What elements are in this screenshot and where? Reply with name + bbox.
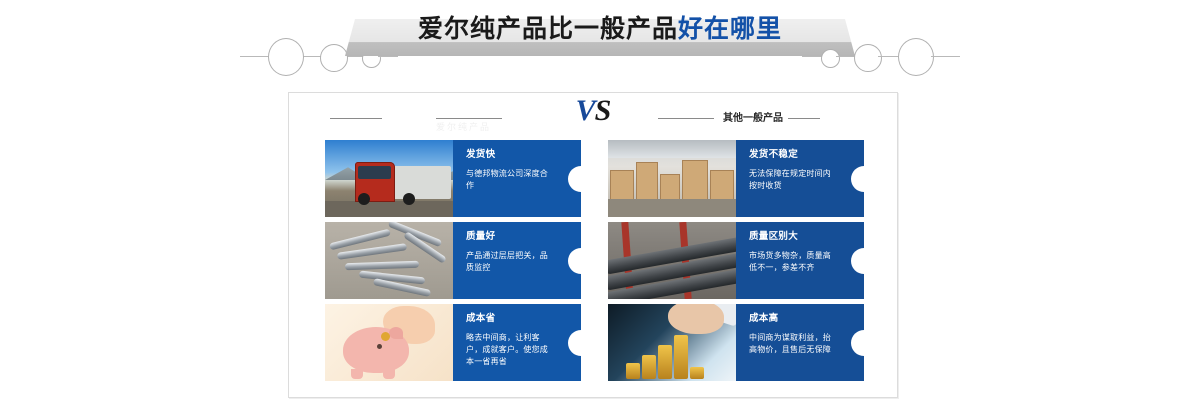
card-notch [568,248,581,274]
header-rule-left [240,56,270,57]
vs-letter-v: V [576,94,595,127]
header-connector-right-3 [802,56,822,57]
vs-line-left-outer [330,118,382,119]
card-panel: 发货快 与德邦物流公司深度合作 [453,140,581,217]
vs-line-right-inner [658,118,714,119]
left-column-label: 爱尔纯产品 [436,120,546,133]
card-notch [851,248,864,274]
card-panel: 成本省 略去中间商，让利客户，成就客户。使您成本一省再省 [453,304,581,381]
card-thumbnail-warehouse [608,140,736,217]
page-title-main: 爱尔纯产品比一般产品 [418,15,678,43]
advantage-card[interactable]: 发货快 与德邦物流公司深度合作 [325,140,581,217]
card-description: 市场货多物杂，质量高低不一，参差不齐 [749,250,838,274]
card-title: 发货不稳定 [749,149,838,161]
header-connector-right-1 [878,56,900,57]
header-circle-large-left [268,38,304,76]
card-title: 质量好 [466,231,555,243]
header-rule-right [931,56,960,57]
card-thumbnail-tubes [325,222,453,299]
page-title-highlight: 好在哪里 [678,15,782,43]
own-product-column: 发货快 与德邦物流公司深度合作 质量好 产品通过层层把关，品质监控 [325,140,581,381]
vs-header-row: 爱尔纯产品 VS 其他一般产品 [288,96,898,140]
advantage-card[interactable]: 质量好 产品通过层层把关，品质监控 [325,222,581,299]
header-circle-large-right [898,38,934,76]
card-notch [851,330,864,356]
card-panel: 质量好 产品通过层层把关，品质监控 [453,222,581,299]
card-thumbnail-coin-stacks [608,304,736,381]
card-title: 质量区别大 [749,231,838,243]
card-description: 与德邦物流公司深度合作 [466,168,555,192]
vs-badge: VS [553,94,633,128]
card-title: 成本省 [466,313,555,325]
card-title: 成本高 [749,313,838,325]
other-product-column: 发货不稳定 无法保障在规定时间内按时收货 质量区别大 市场货多物杂，质量高低不一… [608,140,864,381]
card-panel: 发货不稳定 无法保障在规定时间内按时收货 [736,140,864,217]
card-title: 发货快 [466,149,555,161]
header-circle-small-right [821,49,840,68]
card-notch [568,166,581,192]
card-description: 无法保障在规定时间内按时收货 [749,168,838,192]
card-description: 略去中间商，让利客户，成就客户。使您成本一省再省 [466,332,555,368]
advantage-card[interactable]: 成本省 略去中间商，让利客户，成就客户。使您成本一省再省 [325,304,581,381]
card-thumbnail-truck [325,140,453,217]
header-circle-medium-right [854,44,882,72]
card-panel: 成本高 中间商为谋取利益，抬高物价，且售后无保障 [736,304,864,381]
vs-line-left-inner [436,118,502,119]
right-column-label: 其他一般产品 [714,109,792,124]
card-notch [851,166,864,192]
drawback-card[interactable]: 质量区别大 市场货多物杂，质量高低不一，参差不齐 [608,222,864,299]
card-panel: 质量区别大 市场货多物杂，质量高低不一，参差不齐 [736,222,864,299]
card-description: 产品通过层层把关，品质监控 [466,250,555,274]
header-circle-medium-left [320,44,348,72]
drawback-card[interactable]: 成本高 中间商为谋取利益，抬高物价，且售后无保障 [608,304,864,381]
page-title: 爱尔纯产品比一般产品好在哪里 [345,12,855,46]
vs-line-right-outer [788,118,820,119]
card-notch [568,330,581,356]
card-thumbnail-pipes [608,222,736,299]
header-connector-left-3 [378,56,398,57]
card-description: 中间商为谋取利益，抬高物价，且售后无保障 [749,332,838,356]
page-header: 爱尔纯产品比一般产品好在哪里 [0,0,1200,82]
vs-letter-s: S [595,94,611,127]
header-connector-right-2 [836,56,856,57]
drawback-card[interactable]: 发货不稳定 无法保障在规定时间内按时收货 [608,140,864,217]
card-thumbnail-piggy-bank [325,304,453,381]
